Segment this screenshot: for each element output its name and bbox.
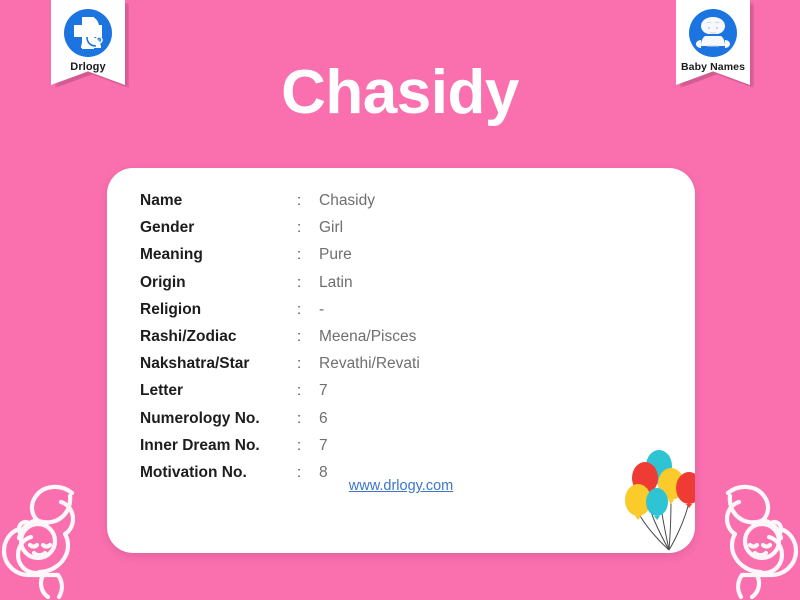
mother-and-baby-icon xyxy=(0,475,108,600)
row-separator: : xyxy=(297,328,319,345)
baby-icon xyxy=(687,7,739,59)
page-title: Chasidy xyxy=(0,62,800,124)
details-table: Name : Chasidy Gender : Girl Meaning : P… xyxy=(140,192,420,491)
mother-and-baby-icon xyxy=(692,475,800,600)
table-row: Numerology No. : 6 xyxy=(140,410,420,437)
row-label: Origin xyxy=(140,274,297,292)
row-separator: : xyxy=(297,192,319,209)
row-label: Letter xyxy=(140,382,297,400)
row-separator: : xyxy=(297,355,319,372)
row-label: Meaning xyxy=(140,246,297,264)
table-row: Gender : Girl xyxy=(140,219,420,246)
name-details-card: Name : Chasidy Gender : Girl Meaning : P… xyxy=(107,168,695,553)
table-row: Name : Chasidy xyxy=(140,192,420,219)
row-separator: : xyxy=(297,301,319,318)
table-row: Origin : Latin xyxy=(140,274,420,301)
row-value: 7 xyxy=(319,382,328,400)
row-label: Numerology No. xyxy=(140,410,297,428)
svg-text:P: P xyxy=(98,38,101,43)
drlogy-medical-cross-doctor-icon: P xyxy=(62,7,114,59)
row-value: Pure xyxy=(319,246,352,264)
row-value: Revathi/Revati xyxy=(319,355,420,373)
row-value: Girl xyxy=(319,219,343,237)
balloons-icon xyxy=(623,446,695,553)
row-label: Name xyxy=(140,192,297,210)
row-label: Gender xyxy=(140,219,297,237)
table-row: Nakshatra/Star : Revathi/Revati xyxy=(140,355,420,382)
row-value: Meena/Pisces xyxy=(319,328,416,346)
row-label: Rashi/Zodiac xyxy=(140,328,297,346)
row-value: Chasidy xyxy=(319,192,375,210)
row-separator: : xyxy=(297,274,319,291)
table-row: Religion : - xyxy=(140,301,420,328)
table-row: Rashi/Zodiac : Meena/Pisces xyxy=(140,328,420,355)
row-value: - xyxy=(319,301,324,319)
row-value: Latin xyxy=(319,274,353,292)
table-row: Inner Dream No. : 7 xyxy=(140,437,420,464)
row-label: Nakshatra/Star xyxy=(140,355,297,373)
row-separator: : xyxy=(297,219,319,236)
table-row: Letter : 7 xyxy=(140,382,420,409)
row-separator: : xyxy=(297,437,319,454)
row-separator: : xyxy=(297,246,319,263)
table-row: Meaning : Pure xyxy=(140,246,420,273)
row-label: Inner Dream No. xyxy=(140,437,297,455)
row-value: 6 xyxy=(319,410,328,428)
website-link[interactable]: www.drlogy.com xyxy=(107,478,695,494)
poster-canvas: P Drlogy Baby Names Chasidy xyxy=(0,0,800,600)
row-label: Religion xyxy=(140,301,297,319)
row-separator: : xyxy=(297,382,319,399)
row-separator: : xyxy=(297,410,319,427)
row-value: 7 xyxy=(319,437,328,455)
